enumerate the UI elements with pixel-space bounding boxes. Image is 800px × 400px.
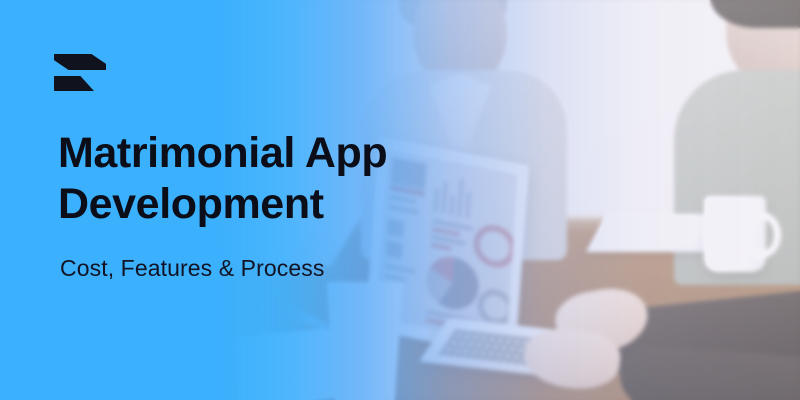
page-title: Matrimonial App Development xyxy=(58,128,478,229)
chevron-logo-icon[interactable] xyxy=(54,54,110,98)
banner-content: Matrimonial App Development Cost, Featur… xyxy=(0,0,800,400)
banner: Matrimonial App Development Cost, Featur… xyxy=(0,0,800,400)
chevron-logo-bar-top xyxy=(54,54,106,70)
chevron-logo-bar-bottom xyxy=(54,76,94,91)
page-subtitle: Cost, Features & Process xyxy=(60,255,324,282)
